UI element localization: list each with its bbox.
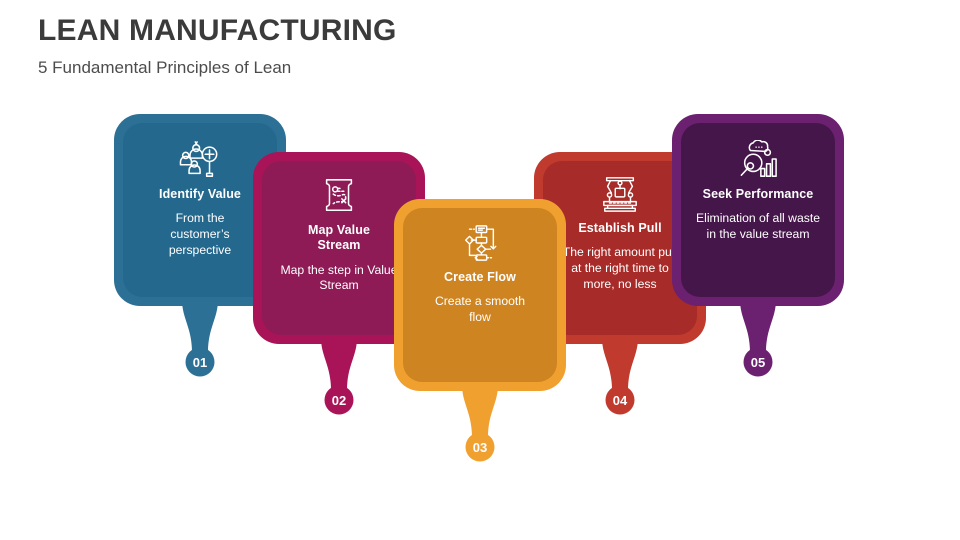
header: LEAN MANUFACTURING 5 Fundamental Princip… bbox=[38, 14, 397, 78]
card-badge-3: 03 bbox=[460, 440, 500, 455]
card-shape-3 bbox=[394, 199, 566, 461]
card-badge-5: 05 bbox=[738, 355, 778, 370]
card-seek-performance[interactable]: Seek Performance Elimination of all wast… bbox=[672, 114, 844, 376]
slide-canvas: LEAN MANUFACTURING 5 Fundamental Princip… bbox=[0, 0, 960, 540]
page-subtitle: 5 Fundamental Principles of Lean bbox=[38, 58, 397, 78]
card-badge-4: 04 bbox=[600, 393, 640, 408]
card-create-flow[interactable]: Create Flow Create a smooth flow 03 bbox=[394, 199, 566, 461]
card-badge-2: 02 bbox=[319, 393, 359, 408]
card-shape-5 bbox=[672, 114, 844, 376]
card-badge-1: 01 bbox=[180, 355, 220, 370]
page-title: LEAN MANUFACTURING bbox=[38, 14, 397, 47]
